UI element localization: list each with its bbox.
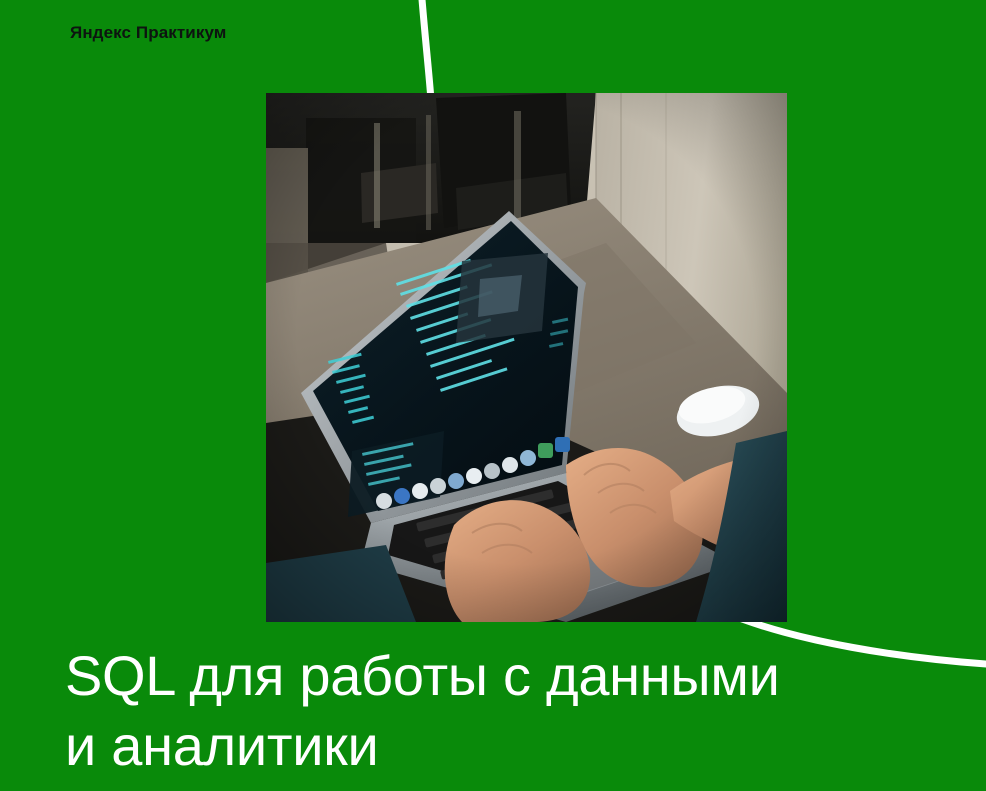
hero-photo (266, 93, 787, 622)
page-title: SQL для работы с данными и аналитики (65, 641, 895, 781)
hero-photo-illustration (266, 93, 787, 622)
brand-logo[interactable]: Яндекс Практикум (70, 23, 226, 43)
promo-poster: Яндекс Практикум (0, 0, 986, 791)
brand-arc-top (419, 0, 431, 100)
